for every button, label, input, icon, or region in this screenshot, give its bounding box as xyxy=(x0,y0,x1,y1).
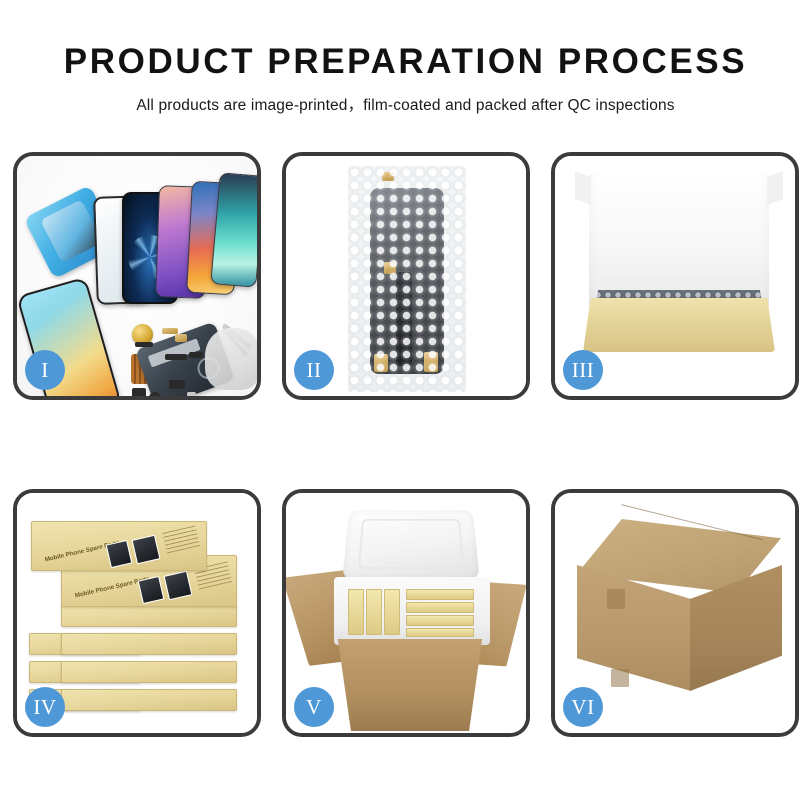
box-screen-photo-top-a xyxy=(106,540,133,568)
flex-cable-part-a xyxy=(135,342,153,347)
packed-box-row-2 xyxy=(366,589,382,635)
kraft-box-tray xyxy=(583,298,775,352)
stacked-box-4 xyxy=(61,661,237,683)
page-title: PRODUCT PREPARATION PROCESS xyxy=(0,44,811,81)
process-step-panel-6: VI xyxy=(551,489,799,737)
stacked-retail-boxes-image: Mobile Phone Spare Parts Mobile Phone Sp… xyxy=(17,493,257,733)
bubble-wrap-bag xyxy=(348,166,466,392)
bag-gold-tab-left xyxy=(374,354,388,372)
packed-box-flat-2 xyxy=(406,602,474,613)
packed-box-flat-3 xyxy=(406,615,474,626)
wrapped-flex-cable xyxy=(396,272,412,366)
step-badge-1: I xyxy=(25,350,65,390)
stacked-box-3 xyxy=(61,633,237,655)
bubble-wrapped-screen-image: II xyxy=(286,156,526,396)
process-step-panel-2: II xyxy=(282,152,530,400)
page-subtitle: All products are image-printed，film-coat… xyxy=(0,93,811,115)
packed-box-flat-1 xyxy=(406,589,474,600)
step-badge-3: III xyxy=(563,350,603,390)
carton-body xyxy=(328,639,492,731)
process-step-panel-3: III xyxy=(551,152,799,400)
flex-cable-part-c xyxy=(189,352,203,358)
bag-gold-tab-mid xyxy=(384,262,396,274)
bag-gold-tab-right xyxy=(424,352,438,372)
packed-box-row-3 xyxy=(384,589,400,635)
foam-box-lid xyxy=(342,510,480,579)
process-step-panel-4: Mobile Phone Spare Parts Mobile Phone Sp… xyxy=(13,489,261,737)
packed-box-row-1 xyxy=(348,589,364,635)
open-kraft-box-image: III xyxy=(555,156,795,396)
stacked-box-5 xyxy=(61,689,237,711)
spare-parts-overview-image: I xyxy=(17,156,257,396)
step-badge-4: IV xyxy=(25,687,65,727)
step-badge-6: VI xyxy=(563,687,603,727)
step-badge-2: II xyxy=(294,350,334,390)
flex-cable-part-b xyxy=(165,354,187,360)
box-screen-photo-top-b xyxy=(131,535,160,565)
process-step-panel-1: I xyxy=(13,152,261,400)
step-badge-5: V xyxy=(294,687,334,727)
ic-chip-part xyxy=(169,380,185,389)
carton-with-foam-image: V xyxy=(286,493,526,733)
gold-connector-part-b xyxy=(175,334,187,342)
stacked-box-top: Mobile Phone Spare Parts xyxy=(31,521,207,571)
bag-gold-tab-top xyxy=(382,172,394,181)
battery-connector-part xyxy=(187,392,196,396)
process-step-panel-5: V xyxy=(282,489,530,737)
sealed-carton-image: VI xyxy=(555,493,795,733)
hand-holding-tool xyxy=(205,328,257,390)
packed-box-flat-4 xyxy=(406,628,474,637)
box-screen-photo-middle-b xyxy=(163,571,192,601)
product-preparation-process-page: PRODUCT PREPARATION PROCESS All products… xyxy=(0,0,811,811)
box-screen-photo-middle-a xyxy=(138,576,165,604)
carton-tape-upper xyxy=(607,589,625,609)
box-spec-lines-top xyxy=(162,524,200,553)
foam-box-body xyxy=(334,577,490,645)
process-steps-grid: I II xyxy=(13,152,800,737)
page-header: PRODUCT PREPARATION PROCESS All products… xyxy=(0,0,811,115)
stacked-box-2 xyxy=(61,605,237,627)
white-box-lid xyxy=(589,174,769,306)
camera-module-part xyxy=(132,388,146,396)
carton-tape-lower xyxy=(611,669,629,687)
